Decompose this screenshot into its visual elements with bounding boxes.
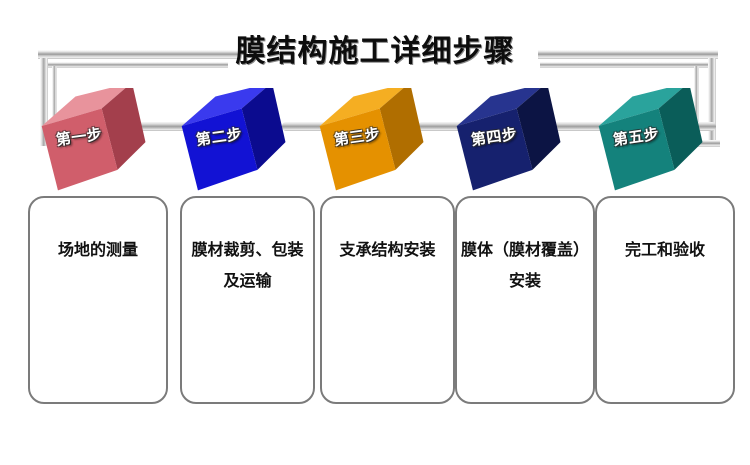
step-cube[interactable]: 第四步 [450, 88, 570, 193]
step-description-text: 膜体（膜材覆盖）安装 [461, 234, 589, 296]
diagram-canvas: 膜结构施工详细步骤 第一步第二步第三步第四步第五步 场地的测量膜材裁剪、包装及运… [0, 0, 750, 465]
step-cube[interactable]: 第五步 [592, 88, 712, 193]
step-description-box[interactable]: 膜材裁剪、包装及运输 [180, 196, 315, 404]
step-description-text: 场地的测量 [34, 234, 162, 265]
step-description-box[interactable]: 支承结构安装 [320, 196, 455, 404]
step-description-text: 支承结构安装 [326, 234, 449, 265]
step-description-text: 膜材裁剪、包装及运输 [186, 234, 309, 296]
step-description-box[interactable]: 膜体（膜材覆盖）安装 [455, 196, 595, 404]
cube-shape-icon [175, 88, 295, 193]
cube-shape-icon [450, 88, 570, 193]
cube-shape-icon [313, 88, 433, 193]
step-description-box[interactable]: 场地的测量 [28, 196, 168, 404]
step-description-box[interactable]: 完工和验收 [595, 196, 735, 404]
step-cube[interactable]: 第二步 [175, 88, 295, 193]
step-cube[interactable]: 第三步 [313, 88, 433, 193]
cube-shape-icon [35, 88, 155, 193]
step-cube[interactable]: 第一步 [35, 88, 155, 193]
cube-shape-icon [592, 88, 712, 193]
step-description-text: 完工和验收 [601, 234, 729, 265]
page-title: 膜结构施工详细步骤 [0, 26, 750, 70]
